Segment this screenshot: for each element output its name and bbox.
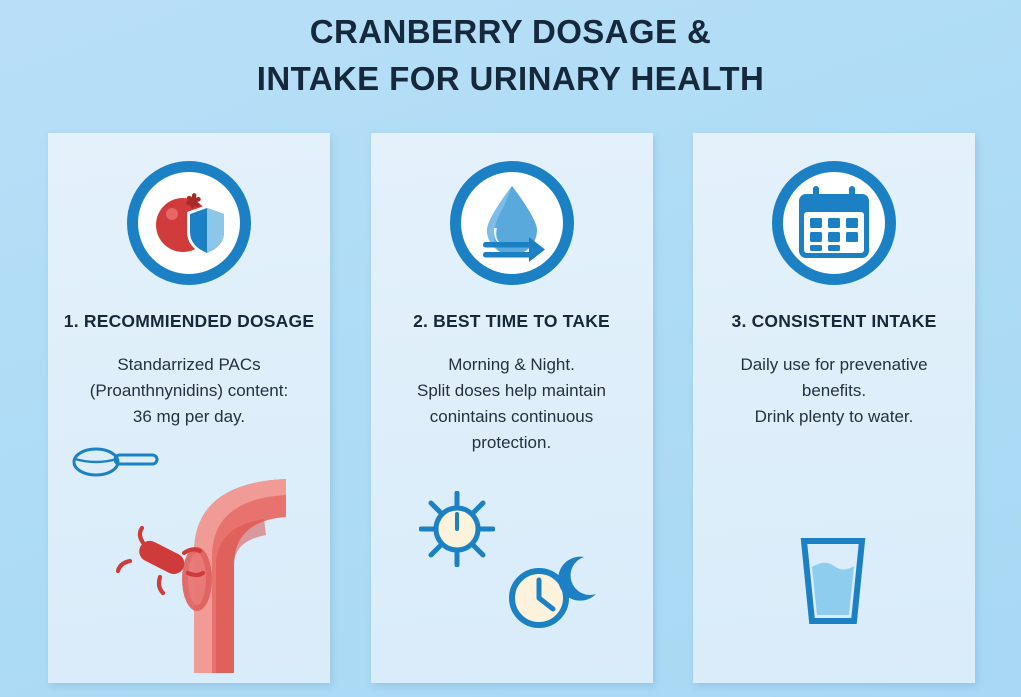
card-body-line: 36 mg per day. xyxy=(58,404,320,430)
title-line-2: INTAKE FOR URINARY HEALTH xyxy=(0,55,1021,102)
card-body-line: (Proanthnynidins) content: xyxy=(58,378,320,404)
card-consistent-intake: 3. CONSISTENT INTAKE Daily use for preve… xyxy=(693,133,975,683)
sun-clock-icon xyxy=(419,491,495,567)
water-droplet-flow-icon xyxy=(469,180,555,266)
card-body-3: Daily use for prevenative benefits. Drin… xyxy=(693,352,975,430)
card-body-line: Split doses help maintain xyxy=(381,378,643,404)
card-heading-3: 3. CONSISTENT INTAKE xyxy=(693,311,975,332)
card-body-line: Drink plenty to water. xyxy=(703,404,965,430)
card-body-line: conintains continuous xyxy=(381,404,643,430)
calendar-icon xyxy=(791,180,877,266)
card-artwork-2 xyxy=(371,443,653,683)
card-artwork-1 xyxy=(48,443,330,683)
card-heading-2: 2. BEST TIME TO TAKE xyxy=(371,311,653,332)
card-best-time-to-take: 2. BEST TIME TO TAKE Morning & Night. Sp… xyxy=(371,133,653,683)
card-heading-1: 1. RECOMMIENDED DOSAGE xyxy=(48,311,330,332)
card-body-2: Morning & Night. Split doses help mainta… xyxy=(371,352,653,456)
cards-row: 1. RECOMMIENDED DOSAGE Standarrized PACs… xyxy=(48,133,975,683)
badge-circle-1 xyxy=(127,161,251,285)
badge-circle-2 xyxy=(450,161,574,285)
card-artwork-3 xyxy=(693,443,975,683)
badge-circle-3 xyxy=(772,161,896,285)
title-line-1: CRANBERRY DOSAGE & xyxy=(0,8,1021,55)
page-title: CRANBERRY DOSAGE & INTAKE FOR URINARY HE… xyxy=(0,8,1021,102)
night-clock-moon-icon xyxy=(506,553,602,631)
urinary-tract-bacteria-icon xyxy=(116,461,316,676)
cranberry-shield-icon xyxy=(143,177,235,269)
card-body-1: Standarrized PACs (Proanthnynidins) cont… xyxy=(48,352,330,430)
card-body-line: benefits. xyxy=(703,378,965,404)
card-body-line: Morning & Night. xyxy=(381,352,643,378)
card-recommended-dosage: 1. RECOMMIENDED DOSAGE Standarrized PACs… xyxy=(48,133,330,683)
card-body-line: Standarrized PACs xyxy=(58,352,320,378)
water-glass-icon xyxy=(787,533,879,629)
card-body-line: Daily use for prevenative xyxy=(703,352,965,378)
